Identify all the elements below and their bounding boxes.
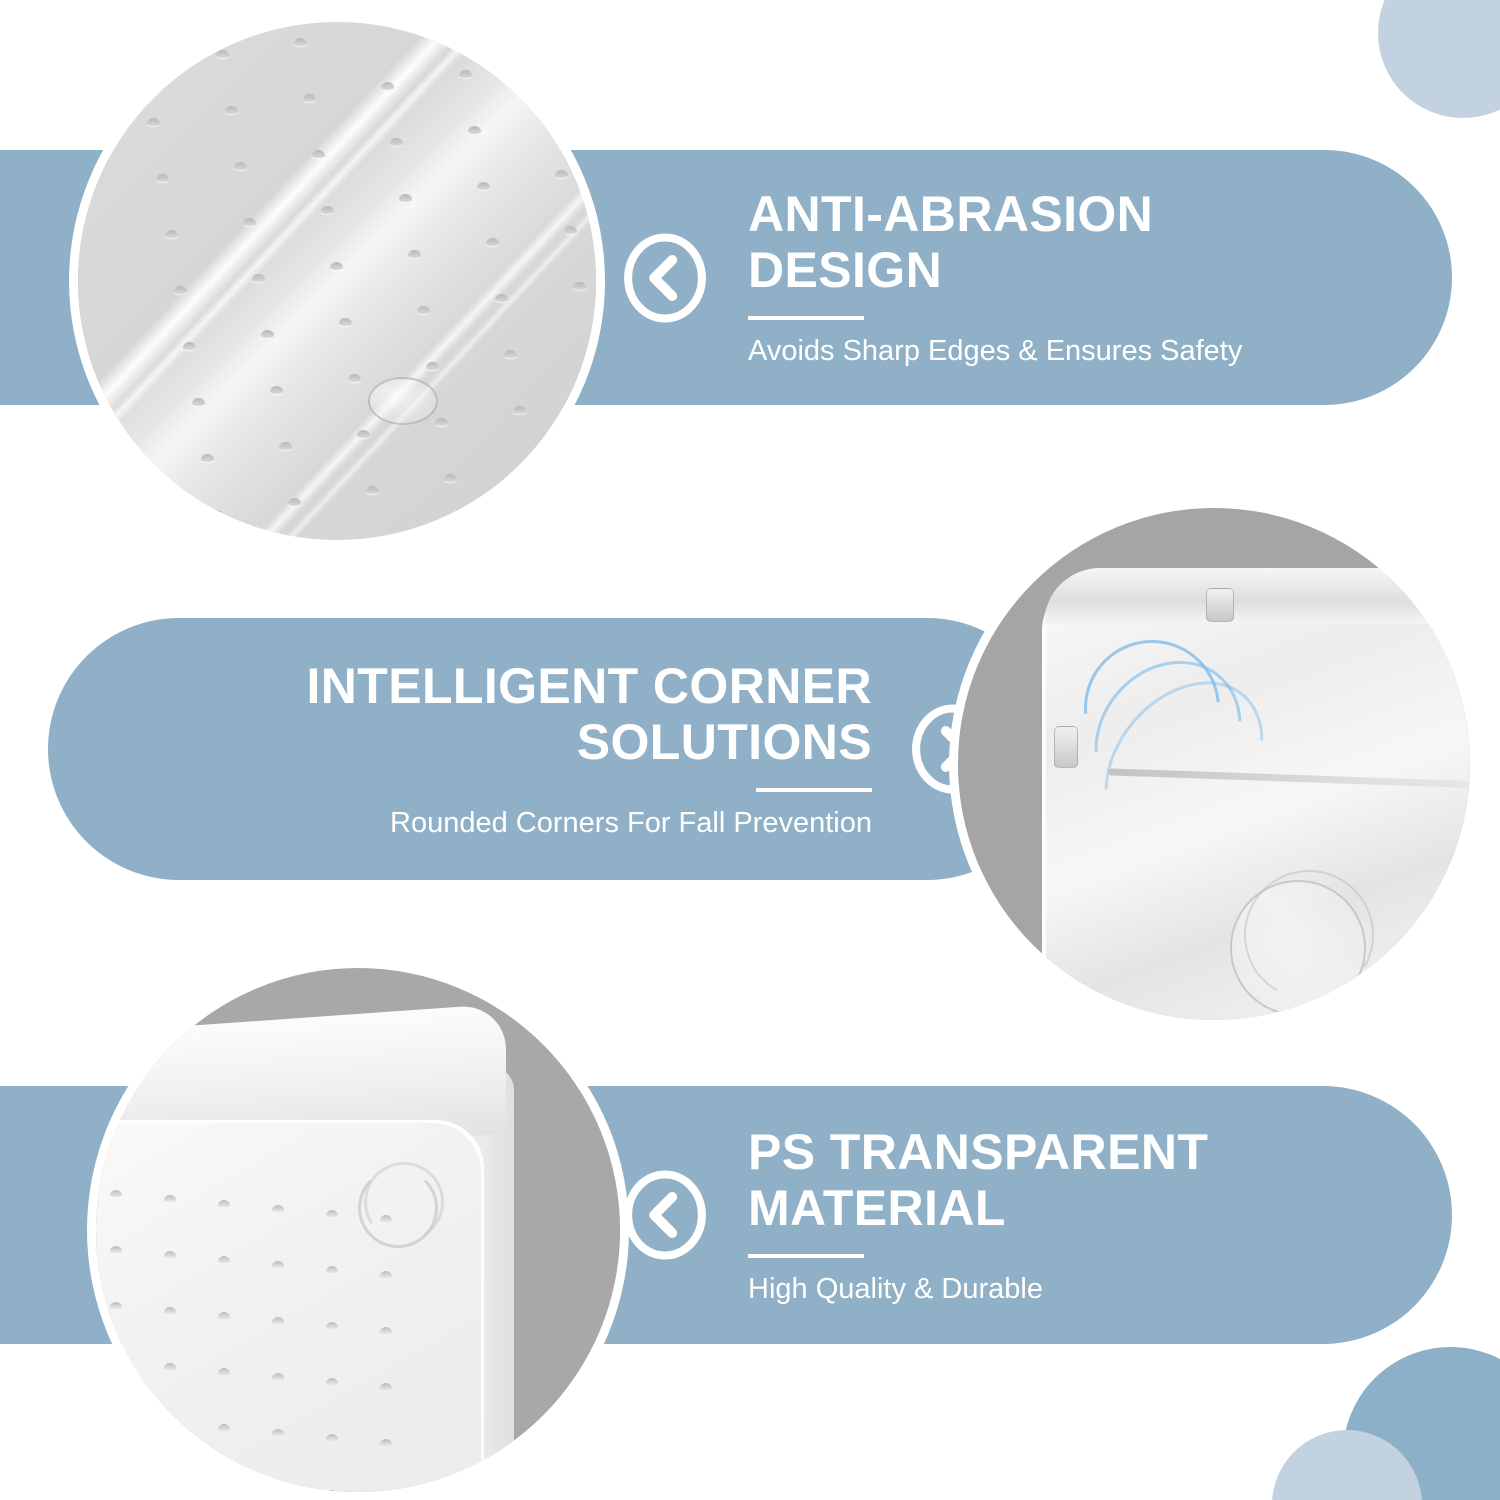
title-divider-rule (748, 1254, 864, 1258)
feature-title: INTELLIGENT CORNER SOLUTIONS (88, 658, 872, 770)
stud-dot (537, 58, 550, 66)
title-divider-rule (748, 316, 864, 320)
stud-dot (330, 262, 343, 270)
stud-dot (243, 218, 256, 226)
stud-dot (261, 330, 274, 338)
perforation-dot (272, 1485, 284, 1492)
perforation-dot (218, 1256, 230, 1263)
feature-photo-ps-transparent (96, 968, 620, 1492)
stud-dot (426, 362, 439, 370)
perforation-dot (164, 1251, 176, 1258)
decorative-circle-bottom-right-small (1272, 1430, 1422, 1500)
perforation-dot (326, 1322, 338, 1329)
stud-dot (459, 70, 472, 78)
feature-photo-anti-abrasion (78, 22, 596, 540)
perforation-dot (272, 1261, 284, 1268)
stud-dot (210, 510, 223, 518)
perforation-dot (164, 1419, 176, 1426)
stud-dot (546, 114, 559, 122)
stud-dot (513, 406, 526, 414)
decorative-circle-top-right (1378, 0, 1500, 118)
perforation-dot (110, 1470, 122, 1477)
stud-dot (252, 274, 265, 282)
stud-dot (234, 162, 247, 170)
perforation-dot (110, 1358, 122, 1365)
feature-subtitle: High Quality & Durable (748, 1272, 1412, 1307)
perforation-dot (380, 1271, 392, 1278)
stud-dot (192, 398, 205, 406)
feature-text-block: PS TRANSPARENT MATERIAL High Quality & D… (710, 1124, 1412, 1307)
perforation-dot (326, 1266, 338, 1273)
stud-dot (348, 374, 361, 382)
perforation-dot (326, 1210, 338, 1217)
perforation-dot (272, 1317, 284, 1324)
container-lid (1044, 568, 1470, 624)
feature-title: ANTI-ABRASION DESIGN (748, 186, 1412, 298)
perforation-dot (326, 1378, 338, 1385)
perforation-dot (272, 1205, 284, 1212)
perforation-dot (218, 1424, 230, 1431)
feature-text-block: INTELLIGENT CORNER SOLUTIONS Rounded Cor… (88, 658, 908, 841)
stud-dot (417, 306, 430, 314)
stud-dot (165, 230, 178, 238)
stud-dot (201, 454, 214, 462)
perforation-dot (218, 1480, 230, 1487)
feature-banner-intelligent-corner: INTELLIGENT CORNER SOLUTIONS Rounded Cor… (48, 618, 1058, 880)
perforation-dot (110, 1190, 122, 1197)
title-divider-rule (756, 788, 872, 792)
stud-dot (357, 430, 370, 438)
stud-dot (468, 126, 481, 134)
stud-dot (138, 62, 151, 70)
stud-dot (366, 486, 379, 494)
stud-dot (435, 418, 448, 426)
perforation-dot (164, 1363, 176, 1370)
feature-text-block: ANTI-ABRASION DESIGN Avoids Sharp Edges … (710, 186, 1412, 369)
stud-dot (288, 498, 301, 506)
stud-dot (270, 386, 283, 394)
stud-dot (321, 206, 334, 214)
stud-dot (381, 82, 394, 90)
stud-dot (279, 442, 292, 450)
stud-dot (486, 238, 499, 246)
feature-title: PS TRANSPARENT MATERIAL (748, 1124, 1412, 1236)
stud-dot (408, 250, 421, 258)
perforation-dot (272, 1373, 284, 1380)
stud-dot (555, 170, 568, 178)
stud-dot (573, 282, 586, 290)
lid-clip-icon (1206, 588, 1234, 622)
perforation-dot (326, 1434, 338, 1441)
stud-dot (312, 150, 325, 158)
feature-subtitle: Rounded Corners For Fall Prevention (88, 806, 872, 841)
stud-dot (444, 474, 457, 482)
perforation-dot (110, 1414, 122, 1421)
perforation-dot (380, 1439, 392, 1446)
stud-dot (294, 38, 307, 46)
vent-ring (368, 377, 438, 425)
perforation-dot (164, 1195, 176, 1202)
feature-photo-intelligent-corner (958, 508, 1470, 1020)
feature-subtitle: Avoids Sharp Edges & Ensures Safety (748, 334, 1412, 369)
lid-clip-icon (1054, 726, 1078, 768)
stud-dot (216, 50, 229, 58)
perforation-dot (218, 1200, 230, 1207)
stud-dot (156, 174, 169, 182)
decorative-circle-bottom-right-large (1343, 1347, 1500, 1500)
stud-dot (174, 286, 187, 294)
photo-content (958, 508, 1470, 1020)
product-feature-infographic: ANTI-ABRASION DESIGN Avoids Sharp Edges … (0, 0, 1500, 1500)
stud-dot (147, 118, 160, 126)
stud-dot (504, 350, 517, 358)
stud-dot (477, 182, 490, 190)
stud-dot (564, 226, 577, 234)
chevron-left-circle-icon[interactable] (620, 232, 710, 324)
perforation-dot (110, 1246, 122, 1253)
perforation-dot (218, 1312, 230, 1319)
photo-content (78, 22, 596, 540)
stud-dot (522, 462, 535, 470)
perforation-dot (218, 1368, 230, 1375)
perforation-dot (110, 1302, 122, 1309)
photo-content (96, 968, 620, 1492)
stud-dot (399, 194, 412, 202)
perforation-dot (272, 1429, 284, 1436)
stud-dot (390, 138, 403, 146)
stud-dot (495, 294, 508, 302)
chevron-left-circle-icon[interactable] (620, 1169, 710, 1261)
perforation-dot (380, 1327, 392, 1334)
perforation-dot (380, 1383, 392, 1390)
perforation-dot (164, 1475, 176, 1482)
stud-dot (339, 318, 352, 326)
perforation-dot (164, 1307, 176, 1314)
stud-dot (303, 94, 316, 102)
stud-dot (183, 342, 196, 350)
stud-dot (225, 106, 238, 114)
